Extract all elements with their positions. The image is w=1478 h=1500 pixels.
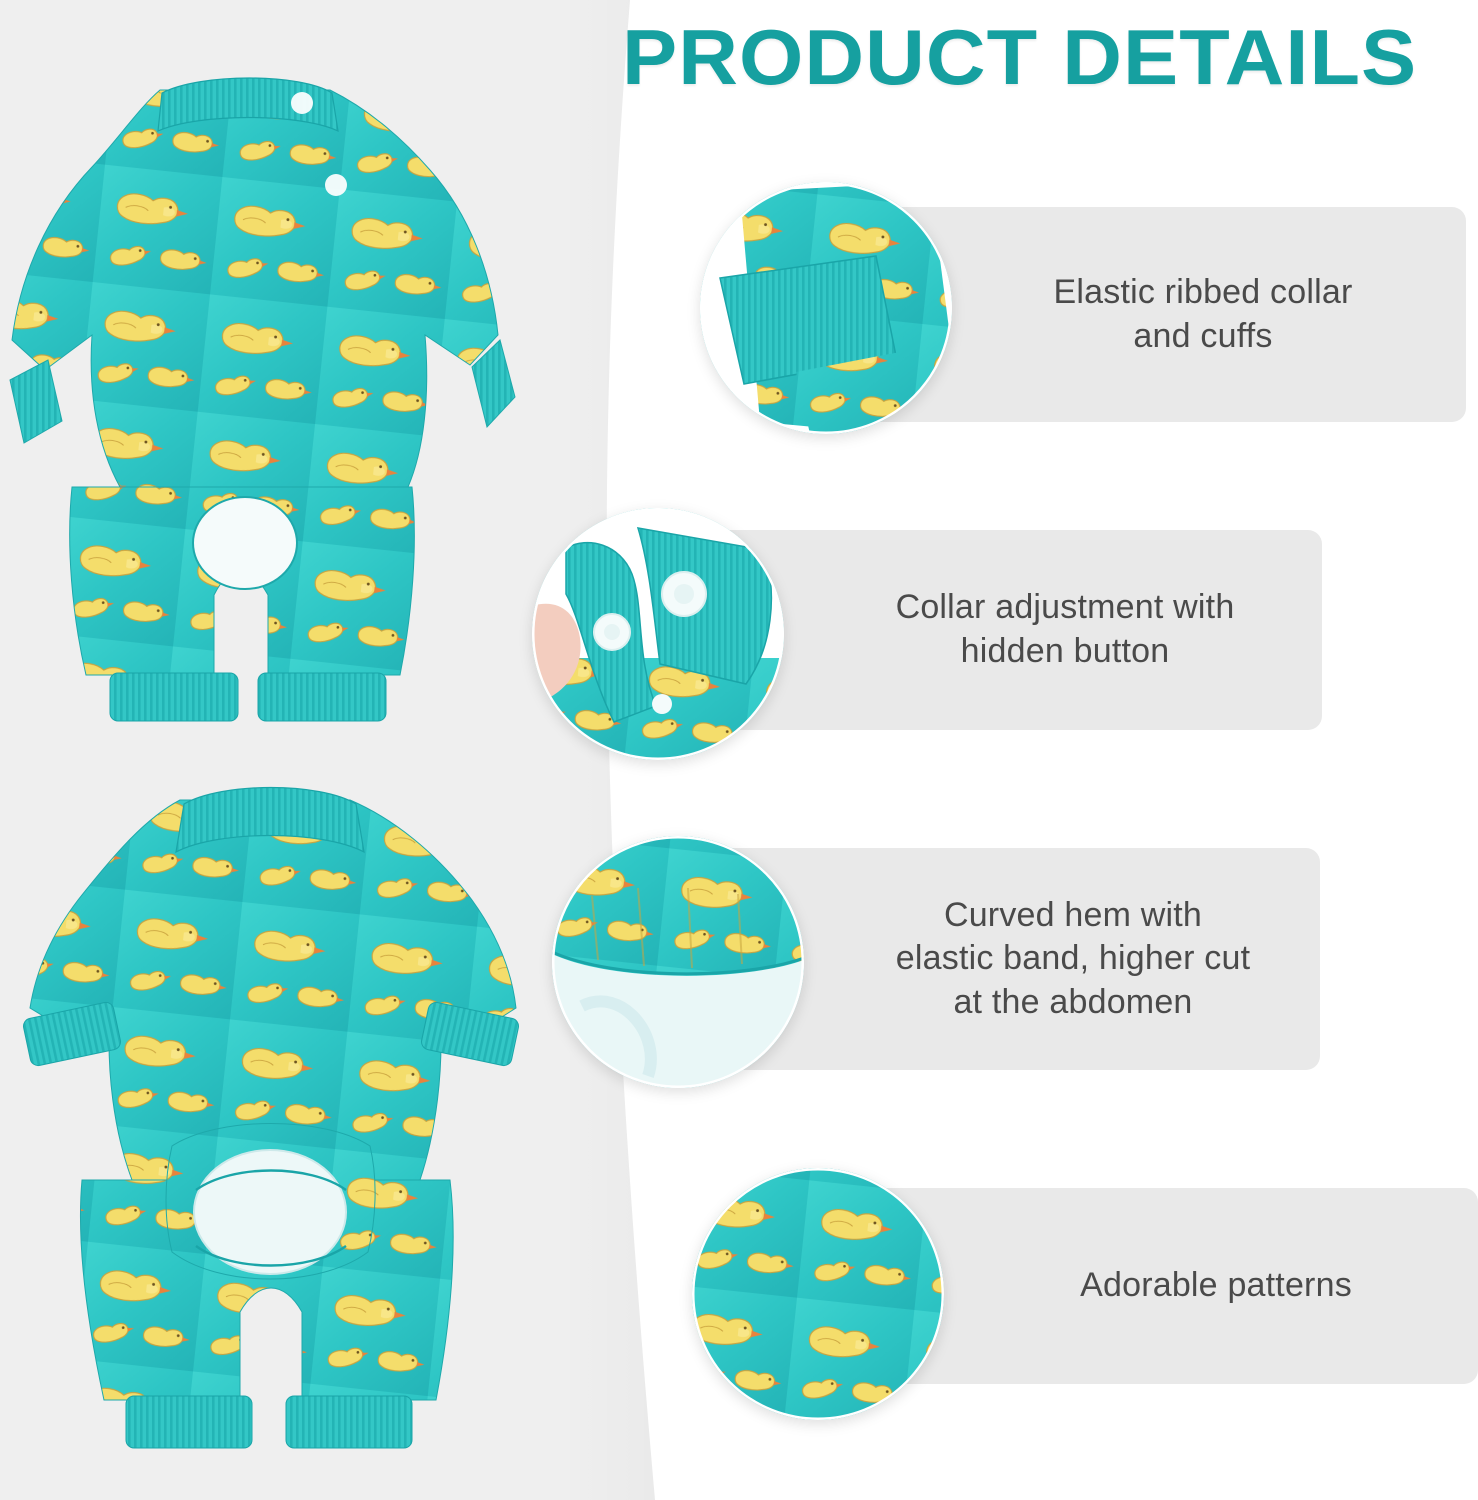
feature-3-thumbnail [552,836,804,1088]
page-title: PRODUCT DETAILS [622,14,1478,100]
product-details-infographic: PRODUCT DETAILS Elastic ribbed collar an… [0,0,1478,1500]
feature-4-thumbnail [692,1168,944,1420]
feature-1-thumbnail [700,182,952,434]
pajama-front-view [0,35,520,735]
pajama-back-view [20,760,520,1460]
page-title-text: PRODUCT DETAILS [622,12,1417,103]
feature-2-thumbnail [532,508,784,760]
